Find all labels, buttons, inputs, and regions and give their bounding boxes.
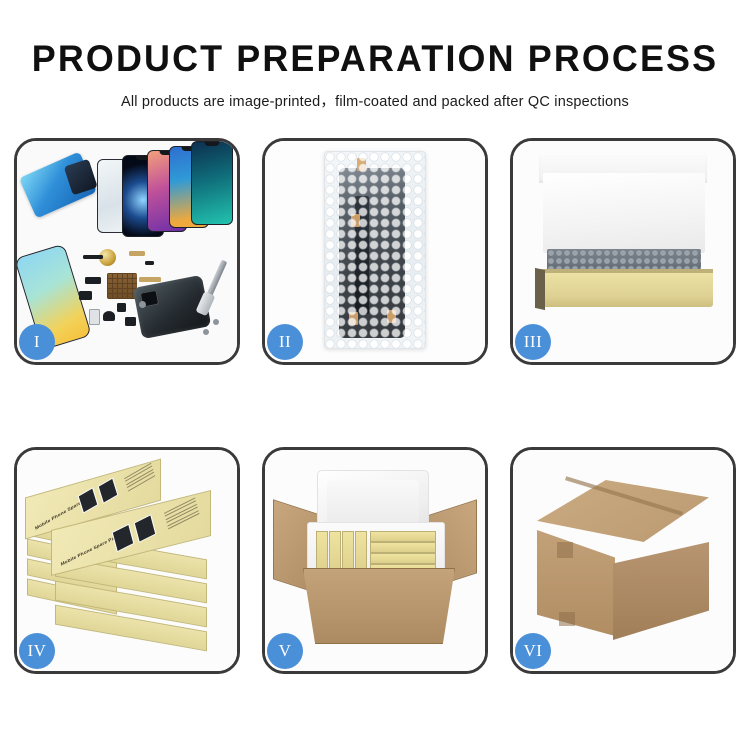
spare-part-icon <box>125 317 136 326</box>
step-badge-2: II <box>267 324 303 360</box>
step-badge-5: V <box>267 633 303 669</box>
yellow-box-icon <box>370 531 436 542</box>
flex-cable-icon <box>139 277 161 282</box>
box-label-photo-icon <box>78 487 99 513</box>
step-badge-4: IV <box>19 633 55 669</box>
process-step-grid: I II <box>14 138 736 674</box>
bubble-wrap-package-icon <box>324 151 426 349</box>
spare-part-icon <box>129 251 145 256</box>
notch-icon <box>205 142 220 146</box>
chip-grid-icon <box>107 273 137 299</box>
process-step-panel-6: VI <box>510 447 736 674</box>
tape-icon <box>349 312 358 325</box>
tape-icon <box>351 214 360 227</box>
spare-part-icon <box>145 261 154 265</box>
process-step-panel-3: III <box>510 138 736 365</box>
tape-icon <box>387 310 396 323</box>
phone-display-icon <box>191 141 233 225</box>
spare-part-icon <box>79 291 92 300</box>
spare-part-icon <box>89 309 100 325</box>
spare-part-icon <box>117 303 126 312</box>
box-label-photo-icon <box>134 514 157 543</box>
screw-icon <box>139 301 146 308</box>
box-label-lines-icon <box>164 497 200 531</box>
process-step-panel-2: II <box>262 138 488 365</box>
page-title: PRODUCT PREPARATION PROCESS <box>11 40 739 77</box>
process-step-panel-4: Mobile Phone Spare Parts Mobile Phone Sp… <box>14 447 240 674</box>
screw-icon <box>213 319 219 325</box>
yellow-box-front-icon <box>537 273 713 307</box>
process-step-panel-1: I <box>14 138 240 365</box>
tape-icon <box>357 158 366 171</box>
step-badge-3: III <box>515 324 551 360</box>
box-label-photo-icon <box>112 524 135 553</box>
step-badge-1: I <box>19 324 55 360</box>
box-label-lines-icon <box>124 463 156 493</box>
spare-part-icon <box>103 311 115 321</box>
box-label-photo-icon <box>98 477 119 503</box>
foam-padding-icon <box>543 173 705 253</box>
step-badge-6: VI <box>515 633 551 669</box>
yellow-box-icon <box>370 542 436 553</box>
carton-body-icon <box>303 568 455 644</box>
product-preparation-infographic: PRODUCT PREPARATION PROCESS All products… <box>0 0 750 750</box>
screw-icon <box>203 329 209 335</box>
spare-part-icon <box>83 255 103 259</box>
spare-part-icon <box>85 277 101 284</box>
carton-tab-icon <box>557 542 573 558</box>
carton-tab-icon <box>559 612 575 626</box>
process-step-panel-5: V <box>262 447 488 674</box>
yellow-box-icon <box>370 553 436 564</box>
header: PRODUCT PREPARATION PROCESS All products… <box>0 0 750 111</box>
page-subtitle: All products are image-printed，film-coat… <box>0 90 750 111</box>
